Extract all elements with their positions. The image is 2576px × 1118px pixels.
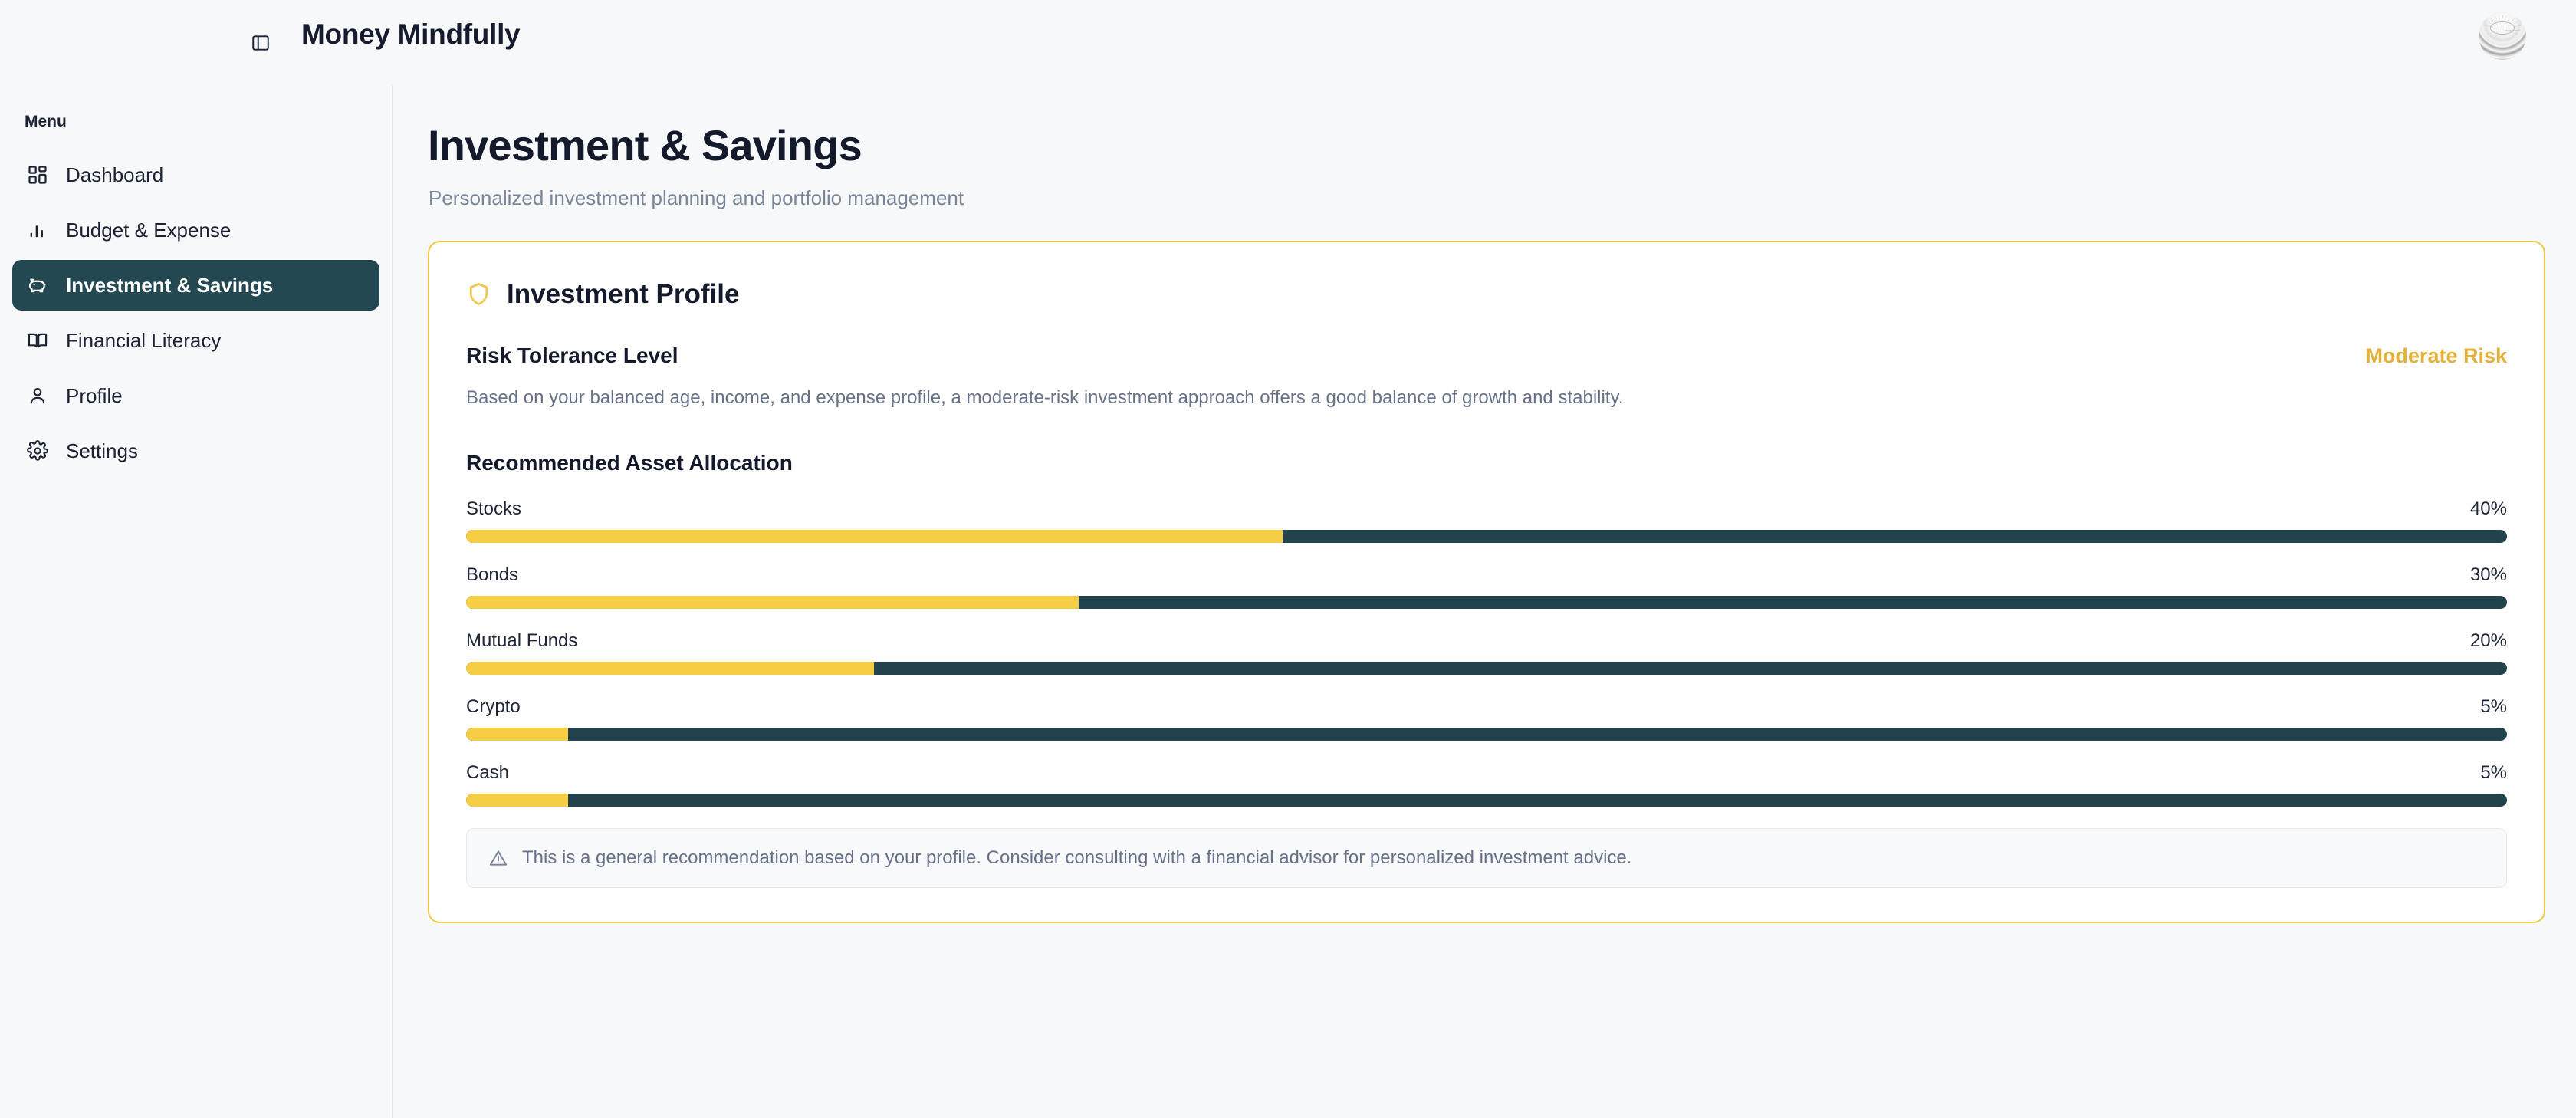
- allocation-label: Crypto: [466, 696, 521, 718]
- disclaimer-text: This is a general recommendation based o…: [522, 847, 1631, 869]
- risk-tolerance-badge: Moderate Risk: [2365, 344, 2507, 368]
- allocation-row: Bonds 30%: [466, 564, 2507, 609]
- sidebar-item-budget-expense[interactable]: Budget & Expense: [12, 205, 379, 255]
- avatar[interactable]: [2479, 12, 2526, 60]
- allocation-label: Cash: [466, 762, 509, 784]
- sidebar-item-financial-literacy[interactable]: Financial Literacy: [12, 315, 379, 366]
- allocation-percent: 5%: [2480, 762, 2507, 784]
- sidebar-item-investment-savings[interactable]: Investment & Savings: [12, 260, 379, 311]
- allocation-progress-fill: [466, 530, 1283, 543]
- allocation-row: Mutual Funds 20%: [466, 630, 2507, 675]
- sidebar-menu-label: Menu: [25, 113, 392, 131]
- allocation-progress-track: [466, 794, 2507, 807]
- sidebar-item-label: Budget & Expense: [66, 219, 231, 242]
- allocation-progress-track: [466, 530, 2507, 543]
- bar-chart-icon: [26, 219, 49, 242]
- allocation-label: Bonds: [466, 564, 518, 586]
- investment-profile-card: Investment Profile Risk Tolerance Level …: [428, 241, 2545, 924]
- allocation-row: Crypto 5%: [466, 696, 2507, 741]
- risk-tolerance-description: Based on your balanced age, income, and …: [466, 385, 2507, 412]
- allocation-list: Stocks 40% Bonds 30% Mutual Funds: [466, 498, 2507, 807]
- page-subtitle: Personalized investment planning and por…: [429, 186, 2526, 210]
- sidebar-item-settings[interactable]: Settings: [12, 426, 379, 476]
- allocation-percent: 30%: [2470, 564, 2507, 586]
- sidebar-item-label: Settings: [66, 439, 138, 463]
- allocation-percent: 5%: [2480, 696, 2507, 718]
- allocation-row: Cash 5%: [466, 762, 2507, 807]
- allocation-label: Stocks: [466, 498, 521, 520]
- sidebar: Menu Dashboard Budget & Expense: [0, 85, 393, 1118]
- book-icon: [26, 329, 49, 352]
- grid-icon: [26, 163, 49, 186]
- allocation-progress-fill: [466, 596, 1079, 609]
- sidebar-item-label: Dashboard: [66, 163, 163, 187]
- page-title: Investment & Savings: [428, 122, 2526, 169]
- allocation-progress-fill: [466, 662, 874, 675]
- allocation-label: Mutual Funds: [466, 630, 577, 652]
- main-content: Investment & Savings Personalized invest…: [393, 85, 2576, 1118]
- allocation-progress-track: [466, 728, 2507, 741]
- brand-title: Money Mindfully: [301, 18, 520, 51]
- allocation-progress-track: [466, 662, 2507, 675]
- sidebar-item-dashboard[interactable]: Dashboard: [12, 150, 379, 200]
- allocation-percent: 20%: [2470, 630, 2507, 652]
- sidebar-item-label: Profile: [66, 384, 123, 408]
- disclaimer-note: This is a general recommendation based o…: [466, 828, 2507, 888]
- allocation-row: Stocks 40%: [466, 498, 2507, 543]
- risk-tolerance-row: Risk Tolerance Level Moderate Risk: [466, 344, 2507, 368]
- card-title: Investment Profile: [507, 279, 739, 310]
- sidebar-item-label: Financial Literacy: [66, 329, 221, 353]
- sidebar-item-profile[interactable]: Profile: [12, 370, 379, 421]
- allocation-progress-fill: [466, 728, 568, 741]
- sidebar-toggle-icon: [251, 33, 271, 53]
- risk-tolerance-label: Risk Tolerance Level: [466, 344, 678, 368]
- allocation-section-title: Recommended Asset Allocation: [466, 451, 2507, 475]
- card-header: Investment Profile: [466, 279, 2507, 310]
- piggy-bank-icon: [26, 274, 49, 297]
- warning-triangle-icon: [488, 848, 508, 868]
- sidebar-toggle-button[interactable]: [245, 28, 276, 58]
- top-bar: Money Mindfully: [0, 0, 2576, 85]
- user-icon: [26, 384, 49, 407]
- allocation-progress-fill: [466, 794, 568, 807]
- avatar-dome-ring: [2490, 21, 2515, 34]
- gear-icon: [26, 439, 49, 462]
- allocation-percent: 40%: [2470, 498, 2507, 520]
- allocation-progress-track: [466, 596, 2507, 609]
- sidebar-item-label: Investment & Savings: [66, 274, 273, 298]
- shield-icon: [466, 281, 491, 307]
